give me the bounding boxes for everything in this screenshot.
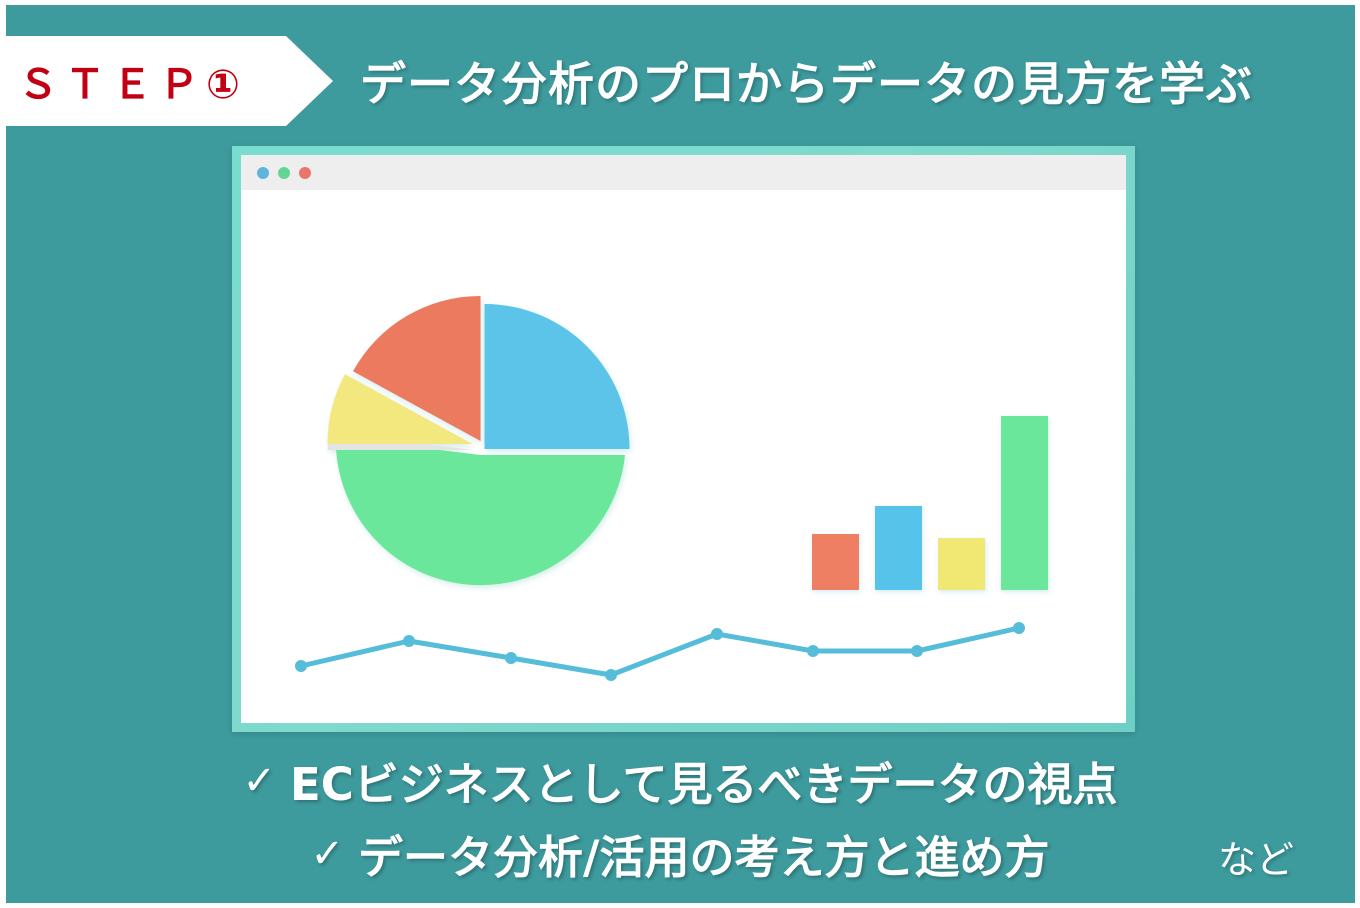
dashboard-figures [241,190,1126,723]
browser-canvas [241,190,1126,723]
bullet-text: データ分析/活用の考え方と進め方 [358,821,1049,886]
browser-mockup-frame [232,146,1135,732]
footnote-label: など [1218,829,1294,884]
slide-root: ＳＴＥＰ① データ分析のプロからデータの見方を学ぶ [0,0,1360,908]
line-chart [295,622,1025,681]
pie-chart [327,296,629,585]
page-title: データ分析のプロからデータの見方を学ぶ [360,48,1253,114]
browser-window [241,155,1126,723]
pie-slice-blue [485,304,630,449]
window-maximize-dot-icon[interactable] [299,167,311,179]
browser-titlebar [241,155,1126,191]
bar-3 [938,538,985,590]
window-close-dot-icon[interactable] [257,167,269,179]
header-band: ＳＴＥＰ① データ分析のプロからデータの見方を学ぶ [0,36,1360,126]
bar-chart [812,416,1048,590]
list-item: ✓ ECビジネスとして見るべきデータの視点 [0,748,1360,813]
check-icon: ✓ [243,761,277,801]
bar-4 [1001,416,1048,590]
bullet-text: ECビジネスとして見るべきデータの視点 [290,748,1117,813]
bar-1 [812,534,859,590]
bullet-list: ✓ ECビジネスとして見るべきデータの視点 ✓ データ分析/活用の考え方と進め方 [0,748,1360,886]
check-icon: ✓ [311,834,345,874]
bar-2 [875,506,922,590]
window-minimize-dot-icon[interactable] [278,167,290,179]
pie-slice-green [336,437,625,585]
step-badge-label: ＳＴＥＰ① [18,52,247,110]
list-item: ✓ データ分析/活用の考え方と進め方 [0,821,1360,886]
line-markers [295,622,1025,681]
